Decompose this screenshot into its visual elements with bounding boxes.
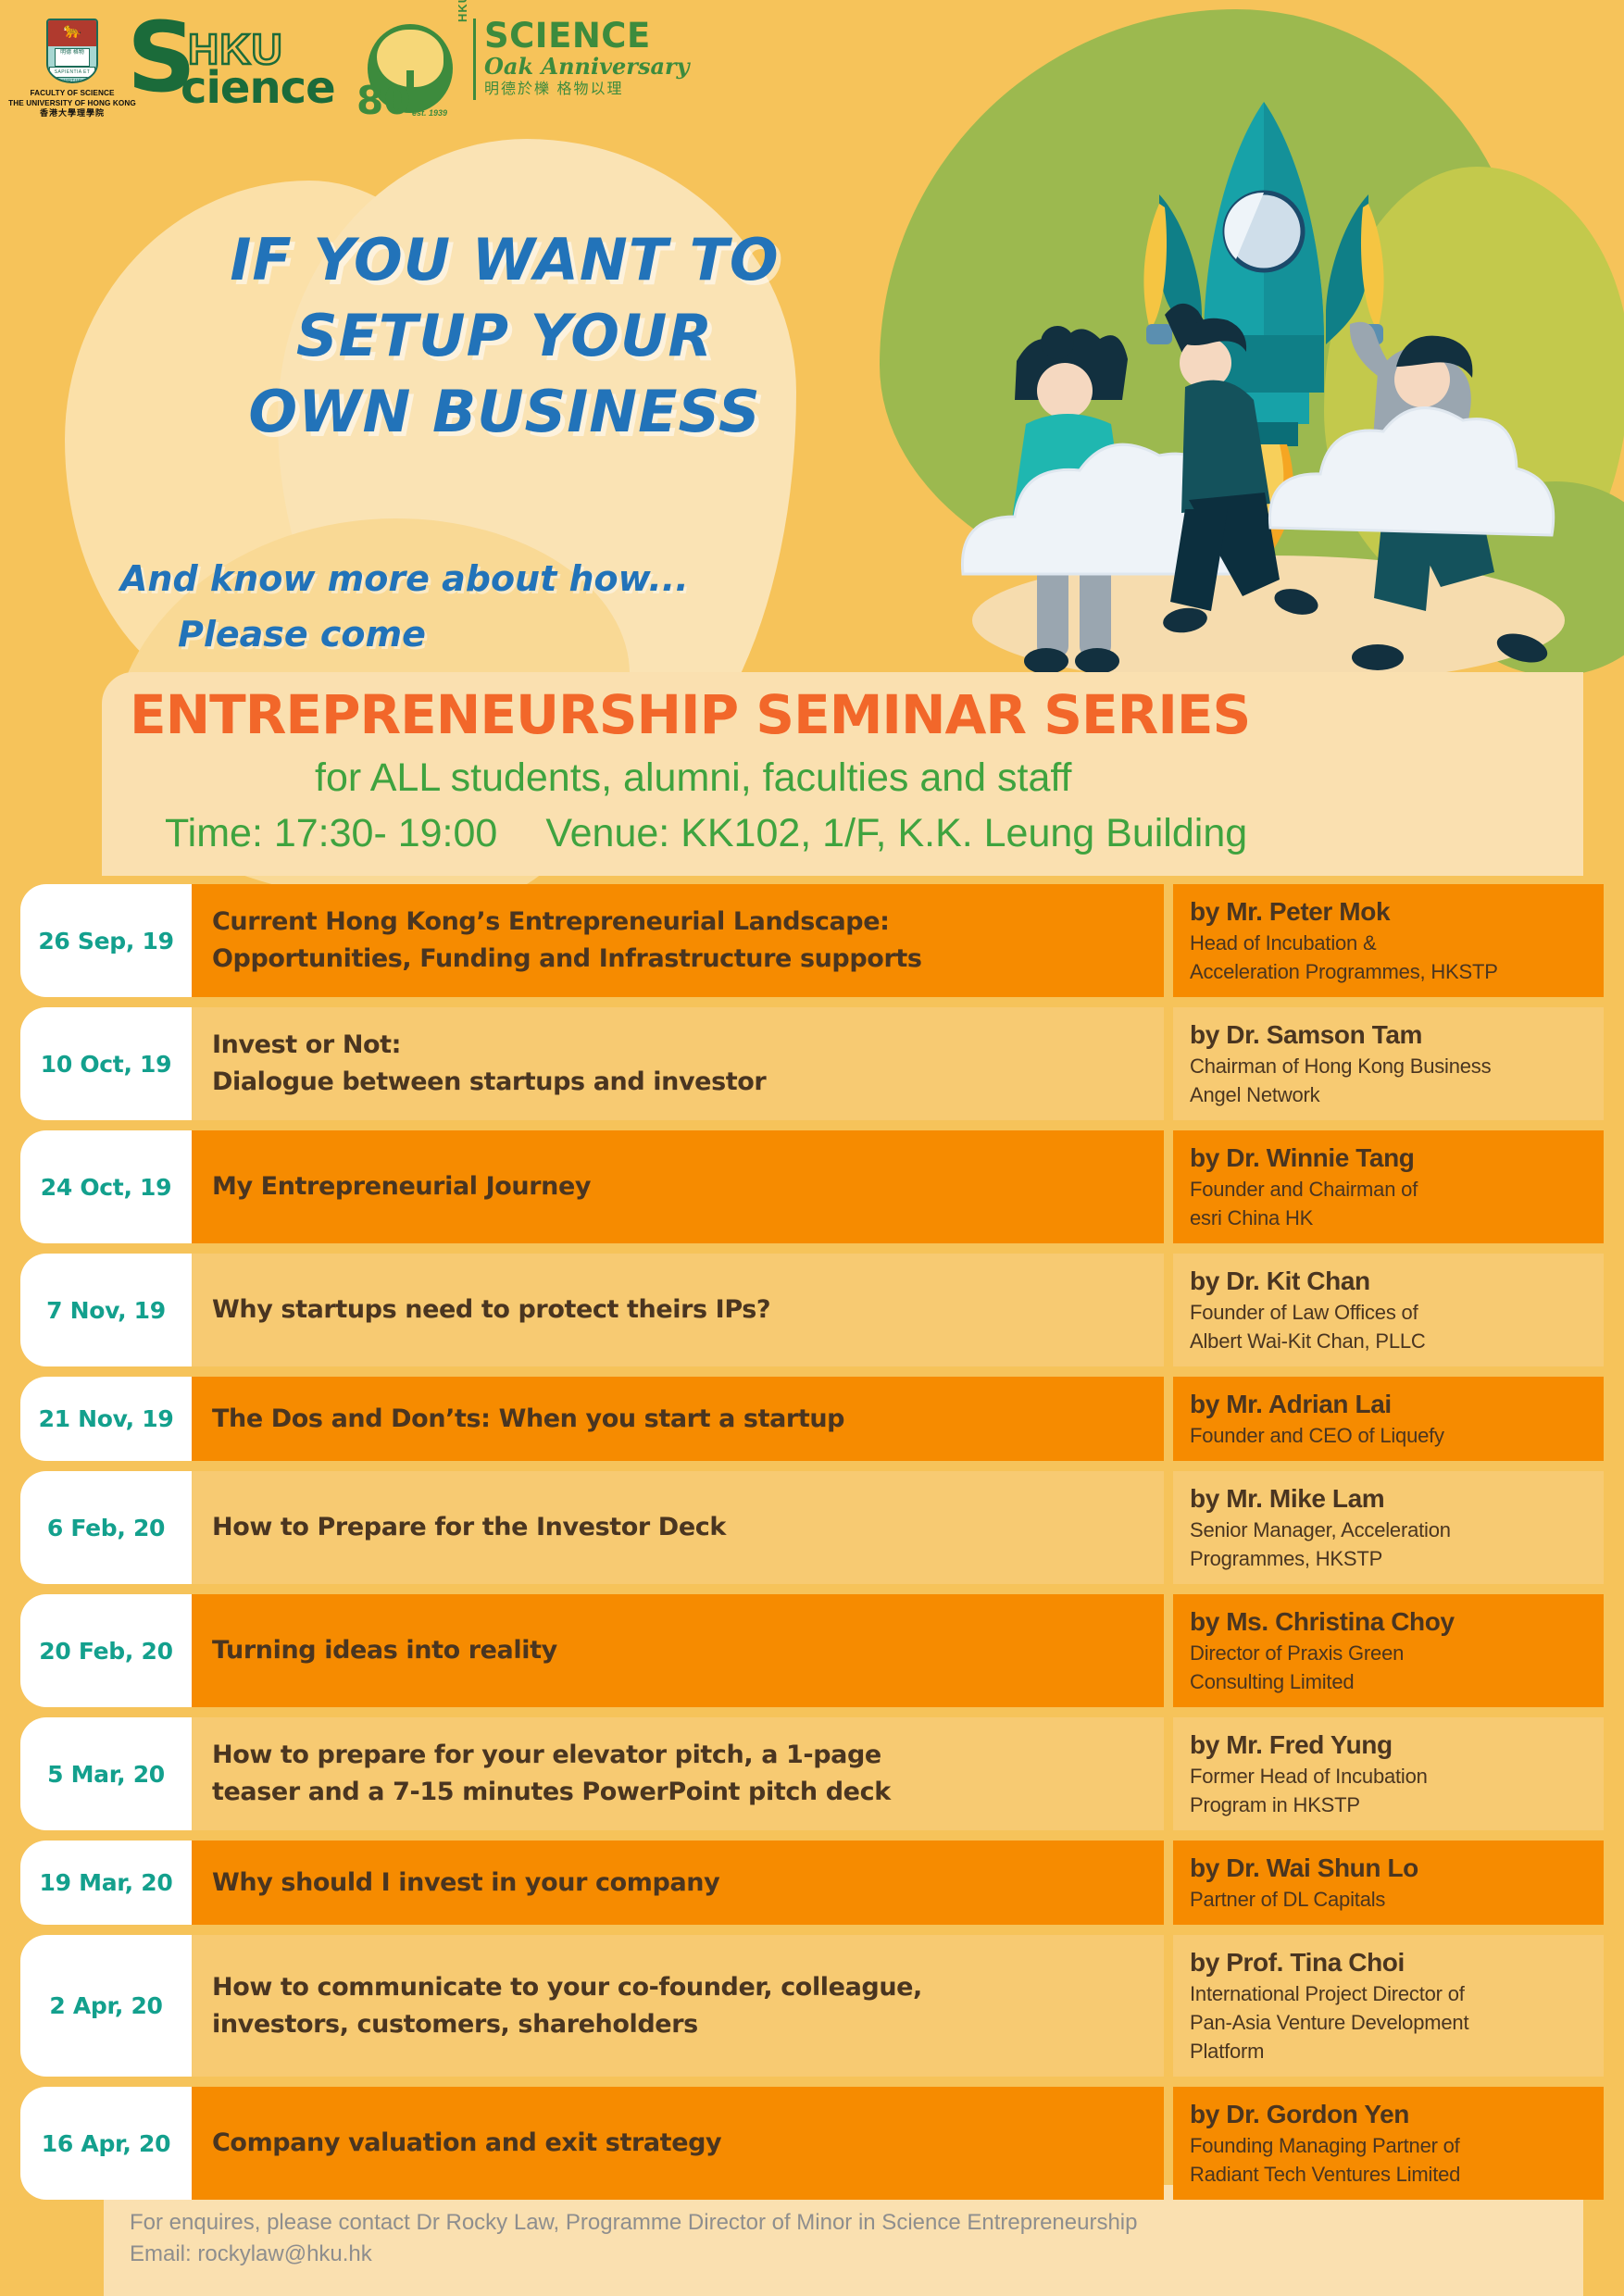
session-speaker-cell: by Dr. Wai Shun LoPartner of DL Capitals	[1173, 1841, 1604, 1925]
cloud-right-icon	[1269, 408, 1553, 535]
speaker-role: Founder and CEO of Liquefy	[1190, 1421, 1594, 1450]
oak-anniversary-logo: 80 est. 1939 HKU SCIENCE Oak Anniversary…	[355, 19, 690, 120]
table-row: 7 Nov, 19Why startups need to protect th…	[20, 1254, 1604, 1366]
session-date: 6 Feb, 20	[20, 1471, 192, 1584]
session-date: 24 Oct, 19	[20, 1130, 192, 1243]
table-row: 5 Mar, 20How to prepare for your elevato…	[20, 1717, 1604, 1830]
session-topic: How to communicate to your co-founder, c…	[192, 1935, 1164, 2077]
footer-contact: For enquires, please contact Dr Rocky La…	[130, 2207, 1137, 2270]
speaker-name: by Mr. Mike Lam	[1190, 1482, 1594, 1516]
table-row: 16 Apr, 20Company valuation and exit str…	[20, 2087, 1604, 2200]
speaker-role: International Project Director of Pan-As…	[1190, 1979, 1594, 2065]
subline-2: Please come	[178, 606, 689, 662]
session-speaker-cell: by Ms. Christina ChoyDirector of Praxis …	[1173, 1594, 1604, 1707]
seminar-venue: Venue: KK102, 1/F, K.K. Leung Building	[545, 811, 1247, 855]
headline-line-1: IF YOU WANT TO	[181, 222, 829, 298]
speaker-name: by Dr. Gordon Yen	[1190, 2098, 1594, 2131]
speaker-role: Founding Managing Partner of Radiant Tec…	[1190, 2131, 1594, 2189]
speaker-name: by Prof. Tina Choi	[1190, 1946, 1594, 1979]
session-date: 20 Feb, 20	[20, 1594, 192, 1707]
session-speaker-cell: by Dr. Samson TamChairman of Hong Kong B…	[1173, 1007, 1604, 1120]
session-topic: How to prepare for your elevator pitch, …	[192, 1717, 1164, 1830]
speaker-role: Founder of Law Offices of Albert Wai-Kit…	[1190, 1298, 1594, 1355]
session-topic: Why should I invest in your company	[192, 1841, 1164, 1925]
session-speaker-cell: by Mr. Peter MokHead of Incubation & Acc…	[1173, 884, 1604, 997]
session-date: 7 Nov, 19	[20, 1254, 192, 1366]
speaker-role: Partner of DL Capitals	[1190, 1885, 1594, 1914]
table-row: 20 Feb, 20Turning ideas into realityby M…	[20, 1594, 1604, 1707]
seminar-title: ENTREPRENEURSHIP SEMINAR SERIES	[130, 683, 1250, 746]
footer-line-1: For enquires, please contact Dr Rocky La…	[130, 2207, 1137, 2239]
session-speaker-cell: by Dr. Kit ChanFounder of Law Offices of…	[1173, 1254, 1604, 1366]
anniversary-text-block: HKU SCIENCE Oak Anniversary 明德於櫟 格物以理	[473, 19, 690, 100]
established-year: est. 1939	[412, 108, 447, 118]
subline-1: And know more about how...	[120, 558, 689, 599]
crest-chinese: 香港大學理學院	[8, 108, 136, 119]
session-date: 2 Apr, 20	[20, 1935, 192, 2077]
speaker-name: by Ms. Christina Choy	[1190, 1605, 1594, 1639]
headline-subtext: And know more about how... Please come	[120, 551, 689, 662]
anniversary-number: 80	[356, 83, 410, 119]
table-row: 21 Nov, 19The Dos and Don’ts: When you s…	[20, 1377, 1604, 1461]
anniversary-chinese: 明德於櫟 格物以理	[484, 80, 690, 100]
shku-cience: cience	[181, 62, 335, 114]
seminar-time-venue: Time: 17:30- 19:00Venue: KK102, 1/F, K.K…	[165, 807, 1247, 859]
seminar-schedule-table: 26 Sep, 19Current Hong Kong’s Entreprene…	[20, 884, 1604, 2210]
speaker-name: by Mr. Fred Yung	[1190, 1728, 1594, 1762]
speaker-name: by Mr. Peter Mok	[1190, 895, 1594, 929]
page-headline: IF YOU WANT TO SETUP YOUR OWN BUSINESS	[181, 222, 829, 450]
session-topic: How to Prepare for the Investor Deck	[192, 1471, 1164, 1584]
speaker-name: by Dr. Winnie Tang	[1190, 1142, 1594, 1175]
headline-line-3: OWN BUSINESS	[181, 374, 829, 450]
lion-icon: 🐆	[63, 24, 81, 39]
crest-shield-icon: 🐆 明德 格物 SAPIENTIA ET VIRTUS	[46, 19, 98, 83]
table-row: 10 Oct, 19Invest or Not: Dialogue betwee…	[20, 1007, 1604, 1120]
shku-science-logo: S HKU cience	[127, 19, 321, 107]
footer-line-2: Email: rockylaw@hku.hk	[130, 2239, 1137, 2270]
session-date: 21 Nov, 19	[20, 1377, 192, 1461]
speaker-name: by Dr. Samson Tam	[1190, 1018, 1594, 1052]
oak-emblem-icon: 80 est. 1939	[355, 19, 466, 120]
session-speaker-cell: by Dr. Winnie TangFounder and Chairman o…	[1173, 1130, 1604, 1243]
session-speaker-cell: by Mr. Adrian LaiFounder and CEO of Liqu…	[1173, 1377, 1604, 1461]
table-row: 24 Oct, 19My Entrepreneurial Journeyby D…	[20, 1130, 1604, 1243]
session-topic: The Dos and Don’ts: When you start a sta…	[192, 1377, 1164, 1461]
session-date: 5 Mar, 20	[20, 1717, 192, 1830]
crest-motto-text: SAPIENTIA ET VIRTUS	[50, 68, 94, 83]
seminar-time: Time: 17:30- 19:00	[165, 811, 497, 855]
speaker-name: by Mr. Adrian Lai	[1190, 1388, 1594, 1421]
table-row: 26 Sep, 19Current Hong Kong’s Entreprene…	[20, 884, 1604, 997]
rocket-startup-illustration	[907, 9, 1620, 676]
logo-bar: 🐆 明德 格物 SAPIENTIA ET VIRTUS FACULTY OF S…	[42, 19, 690, 120]
session-speaker-cell: by Mr. Mike LamSenior Manager, Accelerat…	[1173, 1471, 1604, 1584]
session-topic: Invest or Not: Dialogue between startups…	[192, 1007, 1164, 1120]
session-topic: Company valuation and exit strategy	[192, 2087, 1164, 2200]
open-book-icon: 明德 格物	[55, 48, 90, 67]
crest-university: THE UNIVERSITY OF HONG KONG	[8, 98, 136, 108]
session-date: 19 Mar, 20	[20, 1841, 192, 1925]
session-speaker-cell: by Dr. Gordon YenFounding Managing Partn…	[1173, 2087, 1604, 2200]
speaker-role: Head of Incubation & Acceleration Progra…	[1190, 929, 1594, 986]
session-topic: My Entrepreneurial Journey	[192, 1130, 1164, 1243]
session-speaker-cell: by Mr. Fred YungFormer Head of Incubatio…	[1173, 1717, 1604, 1830]
speaker-role: Chairman of Hong Kong Business Angel Net…	[1190, 1052, 1594, 1109]
crest-caption: FACULTY OF SCIENCE THE UNIVERSITY OF HON…	[8, 88, 136, 119]
session-speaker-cell: by Prof. Tina ChoiInternational Project …	[1173, 1935, 1604, 2077]
anniversary-oak-label: Oak Anniversary	[484, 54, 690, 80]
illustration-svg	[907, 9, 1620, 676]
session-date: 16 Apr, 20	[20, 2087, 192, 2200]
speaker-role: Founder and Chairman of esri China HK	[1190, 1175, 1594, 1232]
hku-crest-logo: 🐆 明德 格物 SAPIENTIA ET VIRTUS FACULTY OF S…	[42, 19, 103, 119]
table-row: 6 Feb, 20How to Prepare for the Investor…	[20, 1471, 1604, 1584]
speaker-name: by Dr. Kit Chan	[1190, 1265, 1594, 1298]
headline-line-2: SETUP YOUR	[181, 298, 829, 374]
anniversary-hku-vertical: HKU	[456, 0, 469, 22]
crest-motto-ribbon: SAPIENTIA ET VIRTUS	[49, 67, 95, 78]
crest-faculty: FACULTY OF SCIENCE	[8, 88, 136, 98]
table-row: 2 Apr, 20How to communicate to your co-f…	[20, 1935, 1604, 2077]
session-topic: Current Hong Kong’s Entrepreneurial Land…	[192, 884, 1164, 997]
table-row: 19 Mar, 20Why should I invest in your co…	[20, 1841, 1604, 1925]
seminar-audience: for ALL students, alumni, faculties and …	[315, 752, 1071, 804]
session-topic: Why startups need to protect theirs IPs?	[192, 1254, 1164, 1366]
session-date: 26 Sep, 19	[20, 884, 192, 997]
crest-book-chars: 明德 格物	[56, 49, 89, 57]
session-date: 10 Oct, 19	[20, 1007, 192, 1120]
speaker-role: Former Head of Incubation Program in HKS…	[1190, 1762, 1594, 1819]
speaker-role: Director of Praxis Green Consulting Limi…	[1190, 1639, 1594, 1696]
speaker-name: by Dr. Wai Shun Lo	[1190, 1852, 1594, 1885]
speaker-role: Senior Manager, Acceleration Programmes,…	[1190, 1516, 1594, 1573]
session-topic: Turning ideas into reality	[192, 1594, 1164, 1707]
anniversary-science: SCIENCE	[484, 19, 690, 54]
